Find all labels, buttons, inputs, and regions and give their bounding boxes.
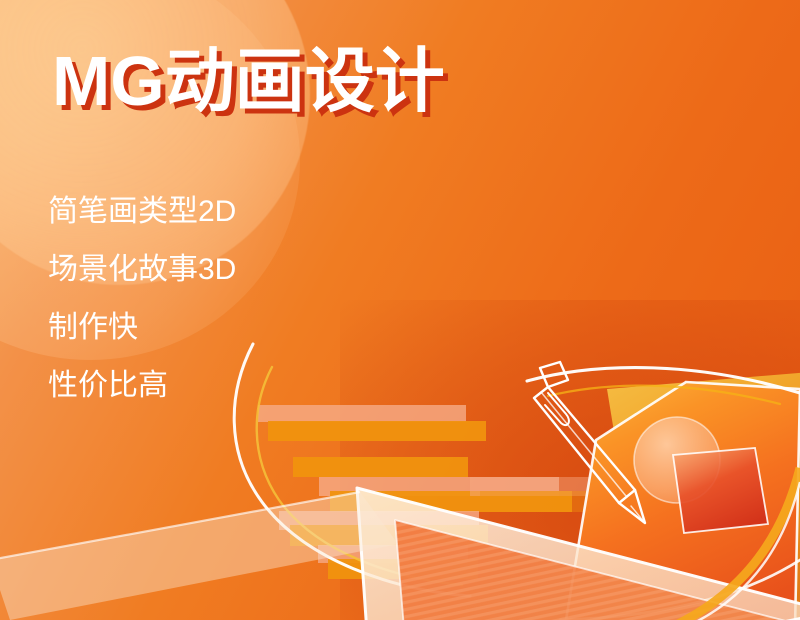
feature-item-4: 性价比高: [48, 357, 236, 415]
feature-item-3: 制作快: [48, 299, 236, 357]
banner-root: MG动画设计 简笔画类型2D 场景化故事3D 制作快 性价比高: [0, 0, 800, 620]
feature-list: 简笔画类型2D 场景化故事3D 制作快 性价比高: [48, 183, 236, 415]
rectangle-shape: [673, 448, 768, 533]
feature-item-1: 简笔画类型2D: [48, 183, 236, 241]
page-title: MG动画设计: [52, 44, 445, 120]
feature-item-2: 场景化故事3D: [48, 241, 236, 299]
